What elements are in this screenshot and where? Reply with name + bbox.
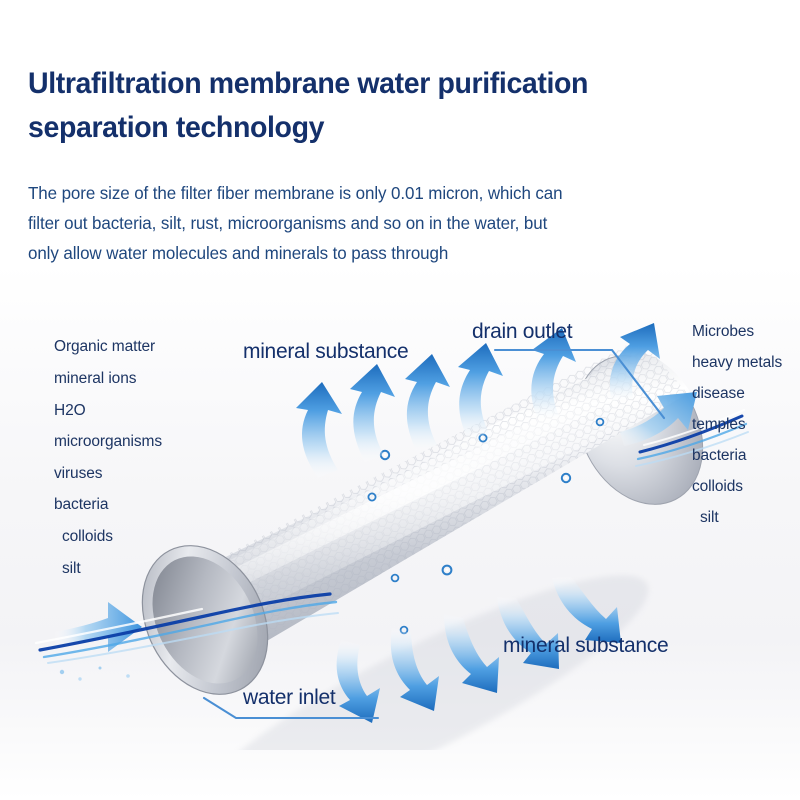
list-item: colloids (62, 528, 113, 546)
list-item: viruses (54, 465, 102, 483)
list-item: silt (700, 509, 719, 527)
list-item: H2O (54, 402, 86, 420)
list-item: Microbes (692, 323, 754, 341)
list-item: disease (692, 385, 745, 403)
callout-water-inlet: water inlet (243, 686, 335, 710)
infographic-page: Ultrafiltration membrane water purificat… (0, 0, 800, 800)
list-item: Organic matter (54, 338, 155, 356)
list-item: colloids (692, 478, 743, 496)
page-title: Ultrafiltration membrane water purificat… (28, 62, 750, 150)
diagram-stage: Organic matter mineral ions H2O microorg… (0, 290, 800, 750)
page-subtitle: The pore size of the filter fiber membra… (28, 178, 741, 268)
list-item: heavy metals (692, 354, 782, 372)
list-item: mineral ions (54, 370, 136, 388)
callout-mineral-substance-top: mineral substance (243, 340, 408, 364)
list-item: bacteria (692, 447, 746, 465)
list-item: microorganisms (54, 433, 162, 451)
list-item: silt (62, 560, 81, 578)
callout-drain-outlet: drain outlet (472, 320, 572, 344)
callout-mineral-substance-bottom: mineral substance (503, 634, 668, 658)
list-item: temples (692, 416, 746, 434)
list-item: bacteria (54, 496, 108, 514)
